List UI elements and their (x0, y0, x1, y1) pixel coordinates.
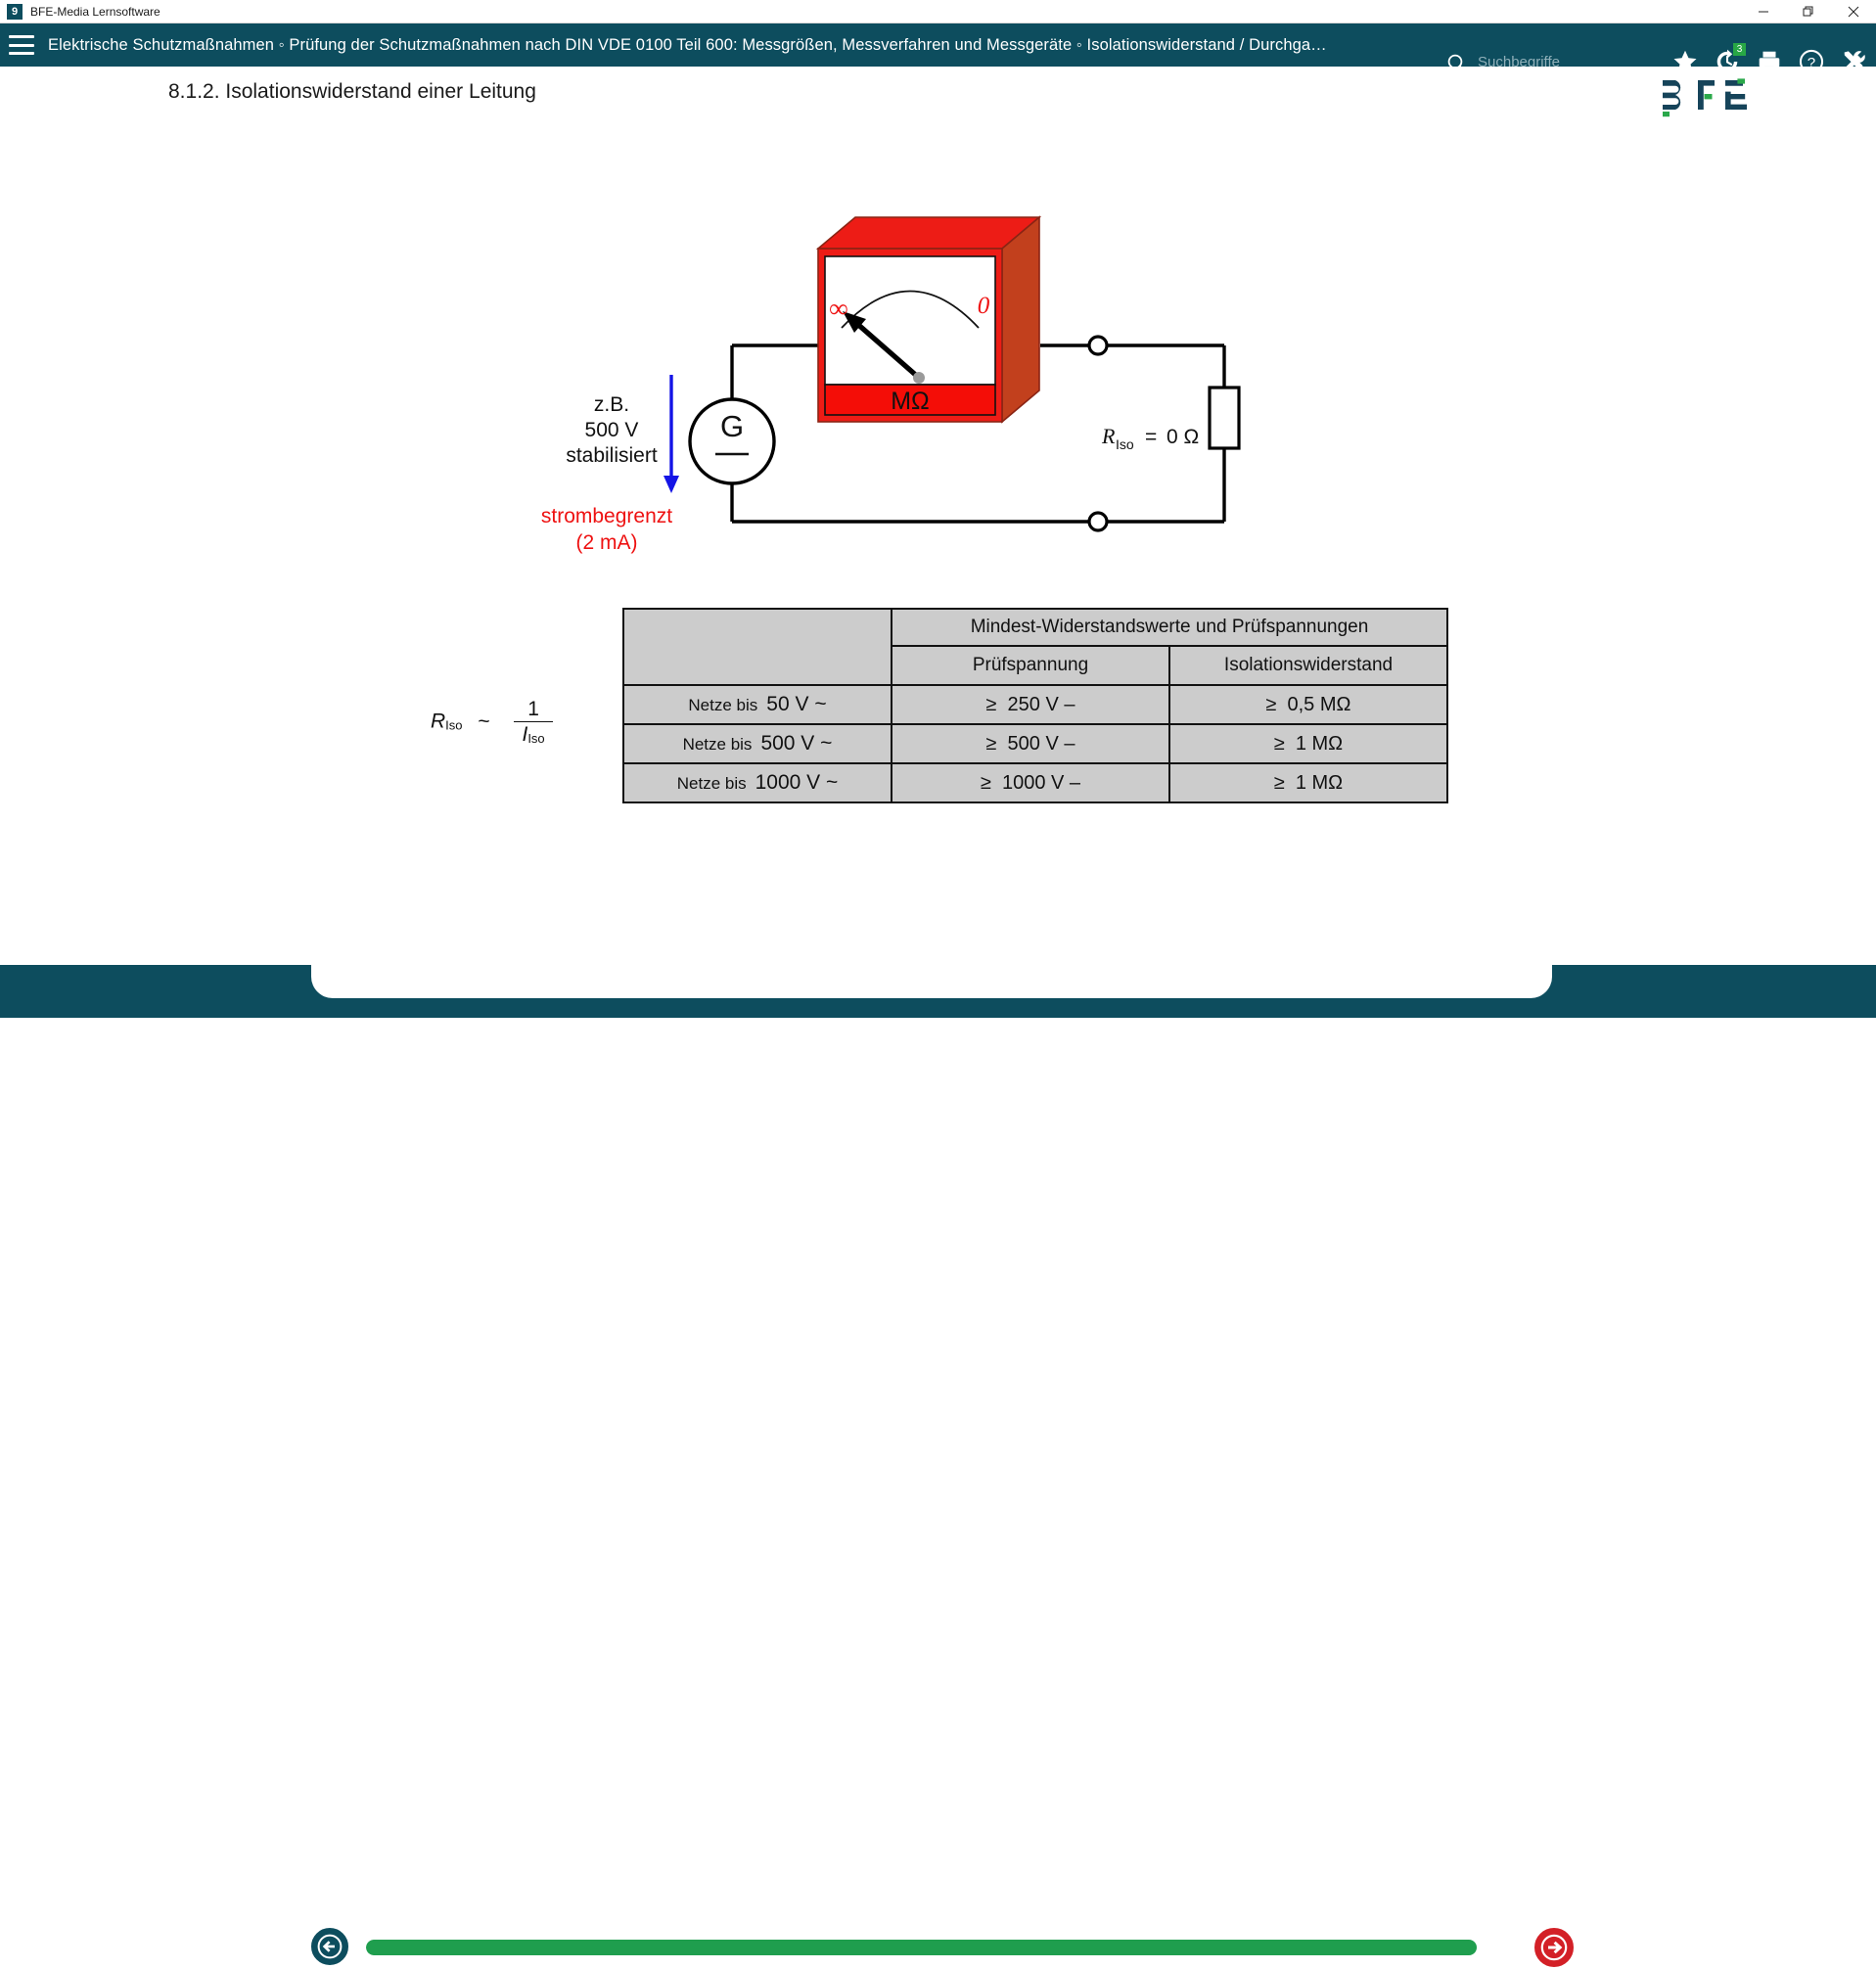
progress-bar-fill (366, 1940, 1477, 1955)
table-cell-test-voltage: ≥250 V – (892, 685, 1169, 724)
row-network: 1000 V ~ (755, 771, 839, 794)
resistor-label-subscript: Iso (1116, 436, 1134, 452)
voltage-source: G (690, 399, 774, 483)
row-network: 500 V ~ (760, 732, 832, 755)
history-badge: 3 (1733, 43, 1746, 56)
restore-icon[interactable] (1786, 0, 1831, 23)
insulation-meter: ∞ 0 MΩ (818, 217, 1039, 422)
current-limit-line2: (2 mA) (576, 531, 638, 554)
formula-lhs-subscript: Iso (445, 718, 462, 733)
table-row: Netze bis1000 V ~ ≥1000 V – ≥1 MΩ (623, 763, 1447, 802)
minimum-resistance-table: Mindest-Widerstandswerte und Prüfspannun… (622, 608, 1448, 803)
previous-page-button[interactable] (309, 1926, 350, 1967)
minimize-icon[interactable] (1741, 0, 1786, 23)
table-cell-resistance: ≥0,5 MΩ (1169, 685, 1447, 724)
meter-unit-label: MΩ (891, 388, 930, 415)
table-row: Netze bis500 V ~ ≥500 V – ≥1 MΩ (623, 724, 1447, 763)
formula-riso: RIso ~ 1 IIso (431, 698, 553, 747)
hamburger-icon[interactable] (9, 35, 34, 55)
app-header: Elektrische Schutzmaßnahmen ◦ Prüfung de… (0, 23, 1876, 67)
formula-numerator: 1 (514, 698, 552, 721)
row-resistance: 1 MΩ (1296, 772, 1343, 794)
table-row: Netze bis50 V ~ ≥250 V – ≥0,5 MΩ (623, 685, 1447, 724)
table-cell-network: Netze bis1000 V ~ (623, 763, 892, 802)
table-cell-network: Netze bis500 V ~ (623, 724, 892, 763)
formula-denominator: IIso (514, 721, 552, 747)
formula-lhs-symbol: R (431, 710, 445, 733)
row-test-voltage-cmp: ≥ (986, 694, 997, 715)
row-resistance: 0,5 MΩ (1288, 694, 1351, 715)
window-controls (1741, 0, 1876, 23)
row-resistance: 1 MΩ (1296, 733, 1343, 755)
footer-navigation (0, 955, 1876, 1018)
formula-denominator-subscript: Iso (527, 731, 544, 746)
terminal-top (1089, 337, 1107, 354)
source-notes: z.B. 500 V stabilisiert (566, 393, 658, 467)
resistor-label: R Iso = 0 Ω (1101, 424, 1199, 452)
meter-scale-left: ∞ (829, 294, 847, 323)
progress-bar[interactable] (366, 1940, 1523, 1955)
next-page-button[interactable] (1533, 1926, 1576, 1969)
row-label: Netze bis (683, 735, 753, 754)
source-note-line1: z.B. (594, 393, 629, 416)
close-icon[interactable] (1831, 0, 1876, 23)
current-limit-note: strombegrenzt (2 mA) (541, 505, 672, 554)
table-header-blank (623, 609, 892, 685)
table-header-row-1: Mindest-Widerstandswerte und Prüfspannun… (623, 609, 1447, 646)
resistor-label-equals: = (1145, 426, 1157, 448)
table-header-span: Mindest-Widerstandswerte und Prüfspannun… (892, 609, 1447, 646)
row-network: 50 V ~ (766, 693, 826, 715)
formula-fraction: 1 IIso (514, 698, 552, 747)
source-label: G (720, 409, 744, 443)
row-label: Netze bis (688, 696, 757, 714)
window-title: BFE-Media Lernsoftware (30, 5, 160, 19)
table-cell-resistance: ≥1 MΩ (1169, 763, 1447, 802)
row-test-voltage-cmp: ≥ (981, 772, 991, 794)
footer-bar (0, 965, 1876, 1018)
source-note-line2: 500 V (585, 419, 639, 441)
resistor-symbol (1210, 388, 1239, 448)
resistor-label-symbol: R (1101, 424, 1116, 448)
window-titlebar: 9 BFE-Media Lernsoftware (0, 0, 1876, 23)
content-area: 8.1.2. Isolationswiderstand einer Leitun… (0, 67, 1876, 955)
source-note-line3: stabilisiert (566, 444, 658, 467)
row-test-voltage: 250 V – (1008, 694, 1075, 715)
voltage-arrow (663, 375, 679, 493)
row-test-voltage: 1000 V – (1002, 772, 1080, 794)
terminal-bottom (1089, 513, 1107, 530)
table-cell-test-voltage: ≥500 V – (892, 724, 1169, 763)
app-icon: 9 (7, 4, 23, 20)
row-label: Netze bis (677, 774, 747, 793)
table-header-pruefspannung: Prüfspannung (892, 646, 1169, 685)
row-resistance-cmp: ≥ (1274, 733, 1285, 755)
row-test-voltage-cmp: ≥ (986, 733, 997, 755)
row-resistance-cmp: ≥ (1266, 694, 1277, 715)
table-cell-resistance: ≥1 MΩ (1169, 724, 1447, 763)
meter-scale-right: 0 (978, 293, 990, 319)
arrow-right-icon (1540, 1934, 1568, 1961)
row-resistance-cmp: ≥ (1274, 772, 1285, 794)
resistor-label-value: 0 Ω (1167, 426, 1199, 448)
arrow-left-icon (317, 1934, 343, 1959)
current-limit-line1: strombegrenzt (541, 505, 672, 527)
table-header-isolationswiderstand: Isolationswiderstand (1169, 646, 1447, 685)
table-cell-network: Netze bis50 V ~ (623, 685, 892, 724)
formula-relation: ~ (478, 710, 489, 733)
table-cell-test-voltage: ≥1000 V – (892, 763, 1169, 802)
breadcrumb[interactable]: Elektrische Schutzmaßnahmen ◦ Prüfung de… (48, 36, 1327, 55)
footer-notch (311, 965, 1552, 998)
circuit-diagram: ∞ 0 MΩ G R Iso = 0 Ω (0, 67, 1876, 955)
row-test-voltage: 500 V – (1008, 733, 1075, 755)
